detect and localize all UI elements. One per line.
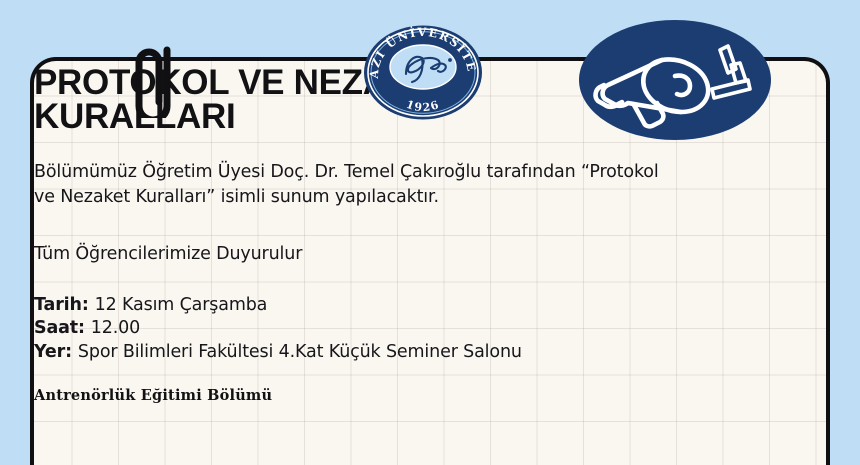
detail-label-time: Saat: [34, 318, 91, 338]
megaphone-icon [578, 19, 772, 141]
department-name: Antrenörlük Eğitimi Bölümü [34, 365, 734, 404]
detail-value-time: 12.00 [91, 318, 140, 338]
announcement-poster: GAZİ ÜNİVERSİTESİ 1926 [0, 0, 860, 465]
detail-value-place: Spor Bilimleri Fakültesi 4.Kat Küçük Sem… [78, 342, 522, 362]
detail-value-date: 12 Kasım Çarşamba [95, 295, 268, 315]
detail-label-place: Yer: [34, 342, 78, 362]
detail-label-date: Tarih: [34, 295, 95, 315]
announcement-notice: Tüm Öğrencilerimize Duyurulur [34, 210, 734, 267]
announcement-body: Bölümümüz Öğretim Üyesi Doç. Dr. Temel Ç… [34, 133, 684, 210]
university-seal-icon: GAZİ ÜNİVERSİTESİ 1926 [362, 24, 484, 121]
paperclip-icon [129, 44, 176, 118]
announcement-details: Tarih: 12 Kasım Çarşamba Saat: 12.00 Yer… [34, 267, 654, 365]
